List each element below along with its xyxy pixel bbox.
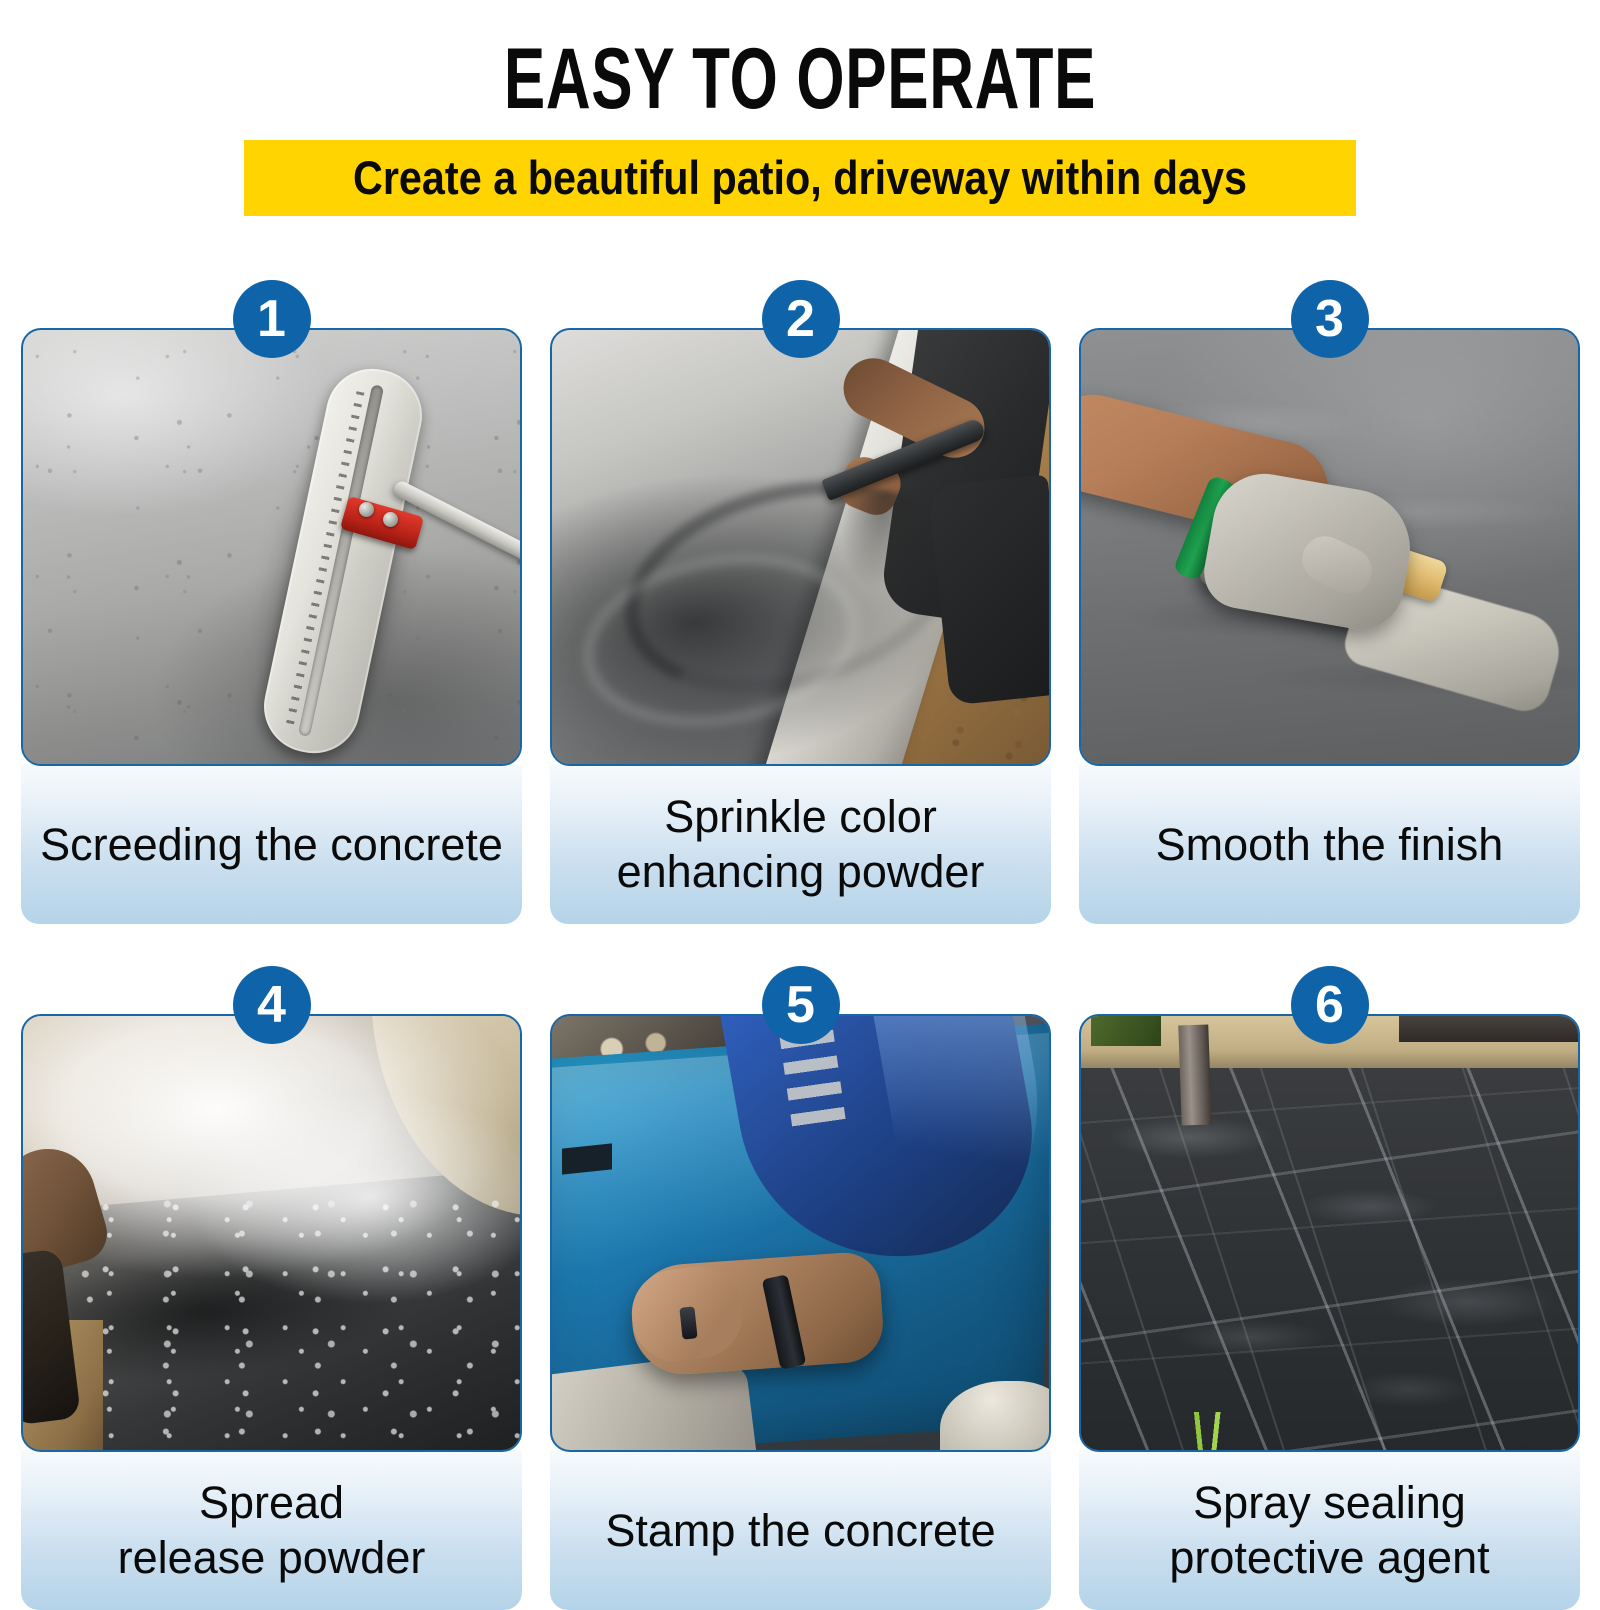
step-number-badge-2: 2 (762, 280, 840, 358)
step-card-6[interactable]: 6 Spray sealing protective agent (1079, 966, 1580, 1610)
step-card-2[interactable]: 2 Sprinkle color enhancing powder (550, 280, 1051, 924)
step-card-5[interactable]: 5 Stamp the concrete (550, 966, 1051, 1610)
step-number-badge-3: 3 (1291, 280, 1369, 358)
step-caption-2: Sprinkle color enhancing powder (617, 789, 985, 899)
step-caption-panel-5: Stamp the concrete (550, 1450, 1051, 1610)
step-caption-panel-1: Screeding the concrete (21, 764, 522, 924)
page-title: EASY TO OPERATE (224, 36, 1376, 122)
subtitle-banner: Create a beautiful patio, driveway withi… (244, 140, 1356, 216)
step-number-badge-4: 4 (233, 966, 311, 1044)
step-caption-3: Smooth the finish (1156, 817, 1504, 872)
step-photo-6 (1079, 1014, 1580, 1452)
step-photo-1 (21, 328, 522, 766)
step-number-badge-6: 6 (1291, 966, 1369, 1044)
step-caption-panel-3: Smooth the finish (1079, 764, 1580, 924)
step-photo-4 (21, 1014, 522, 1452)
step-photo-3 (1079, 328, 1580, 766)
step-card-1[interactable]: 1 Screeding the concrete (21, 280, 522, 924)
step-number-badge-5: 5 (762, 966, 840, 1044)
step-caption-5: Stamp the concrete (605, 1503, 995, 1558)
step-card-3[interactable]: 3 Smooth the finish (1079, 280, 1580, 924)
step-caption-1: Screeding the concrete (40, 817, 503, 872)
step-photo-2 (550, 328, 1051, 766)
step-number-badge-1: 1 (233, 280, 311, 358)
step-caption-panel-6: Spray sealing protective agent (1079, 1450, 1580, 1610)
step-caption-panel-2: Sprinkle color enhancing powder (550, 764, 1051, 924)
step-caption-panel-4: Spread release powder (21, 1450, 522, 1610)
header: EASY TO OPERATE Create a beautiful patio… (0, 0, 1600, 216)
steps-grid: 1 Screeding the concrete 2 (21, 280, 1581, 1610)
step-card-4[interactable]: 4 Spread release powder (21, 966, 522, 1610)
step-caption-4: Spread release powder (118, 1475, 426, 1585)
step-photo-5 (550, 1014, 1051, 1452)
subtitle-text: Create a beautiful patio, driveway withi… (353, 152, 1247, 204)
step-caption-6: Spray sealing protective agent (1169, 1475, 1489, 1585)
